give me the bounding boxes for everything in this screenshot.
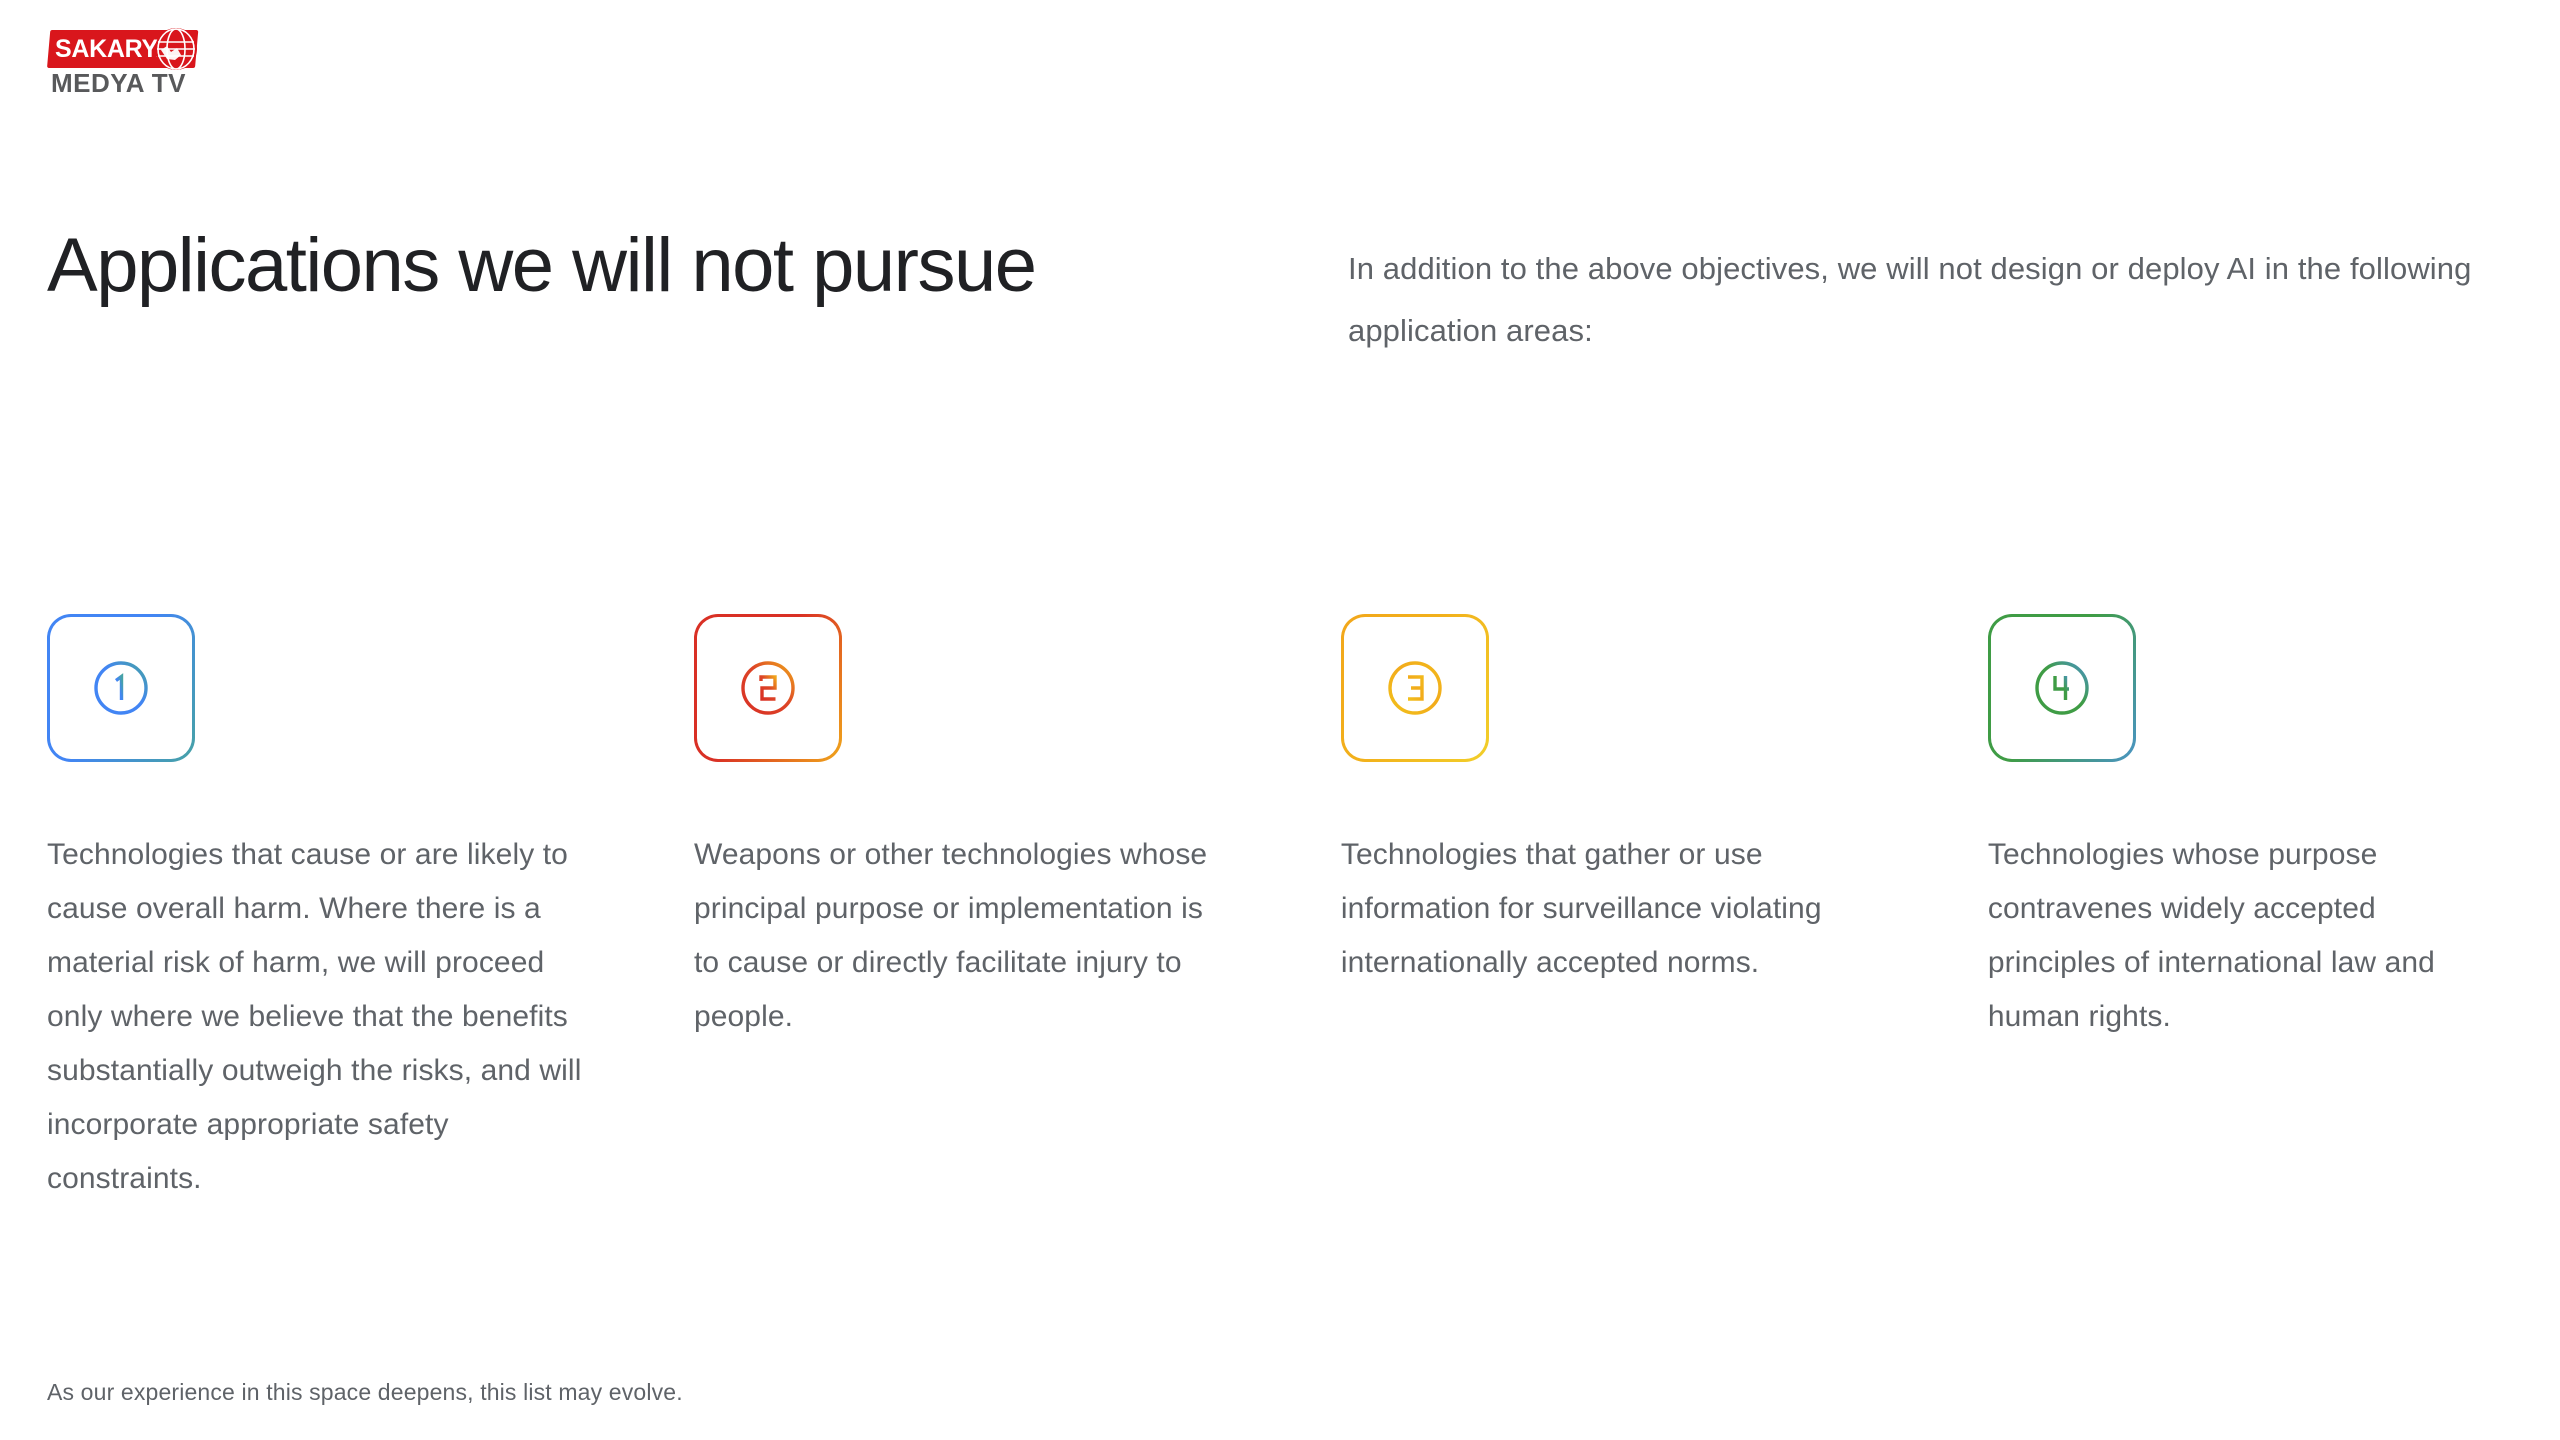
intro-paragraph: In addition to the above objectives, we …	[1348, 238, 2518, 362]
list-item-text: Technologies whose purpose contravenes w…	[1988, 828, 2488, 1044]
list-item-text: Weapons or other technologies whose prin…	[694, 828, 1234, 1044]
footnote-text: As our experience in this space deepens,…	[47, 1375, 683, 1409]
list-item-text: Technologies that cause or are likely to…	[47, 828, 587, 1206]
circled-number-2-icon	[694, 614, 842, 762]
logo-secondary-text: MEDYA TV	[51, 68, 186, 99]
application-list: Technologies that cause or are likely to…	[47, 614, 2507, 1206]
list-item: Technologies that gather or use informat…	[1341, 614, 1988, 1206]
circled-number-4-icon	[1988, 614, 2136, 762]
list-item: Technologies whose purpose contravenes w…	[1988, 614, 2507, 1206]
site-logo[interactable]: SAKARYA MEDYA TV	[47, 30, 237, 110]
list-item: Weapons or other technologies whose prin…	[694, 614, 1341, 1206]
list-item: Technologies that cause or are likely to…	[47, 614, 694, 1206]
page-title: Applications we will not pursue	[47, 228, 1247, 304]
globe-icon	[155, 28, 197, 70]
page-root: SAKARYA MEDYA TV Applications we will no…	[0, 0, 2560, 1440]
list-item-text: Technologies that gather or use informat…	[1341, 828, 1861, 990]
circled-number-3-icon	[1341, 614, 1489, 762]
circled-number-1-icon	[47, 614, 195, 762]
